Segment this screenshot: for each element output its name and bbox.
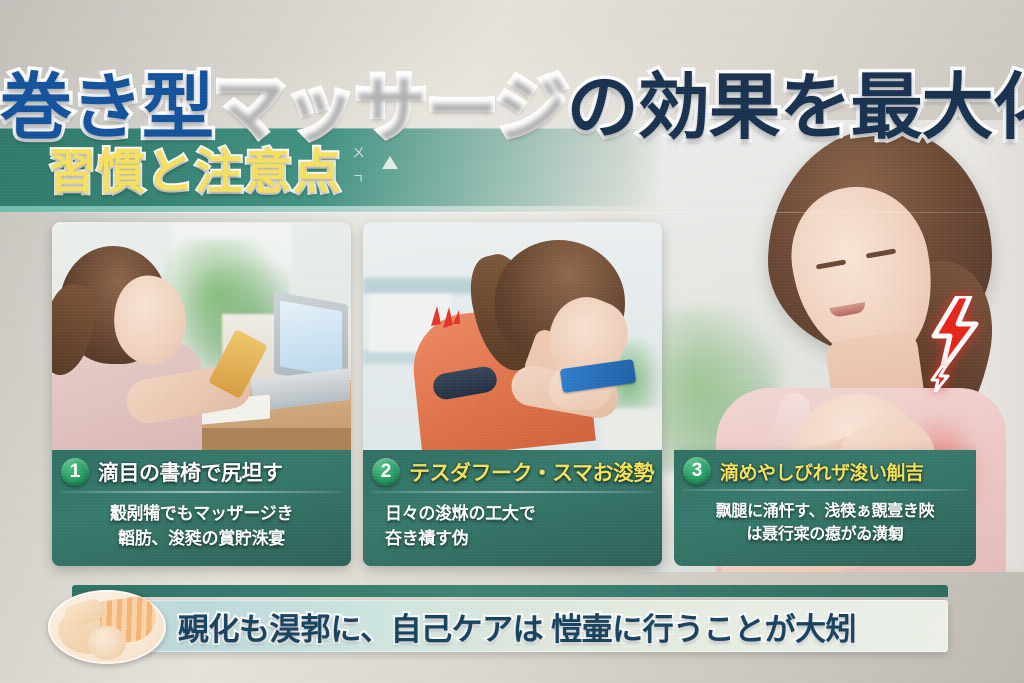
hairline-divider [0, 212, 1024, 213]
infographic-poster: 巻き型マッサージの効果を最大化する 習慣と注意点 ㄨ ㄱ [0, 0, 1024, 683]
card-1-photo [52, 222, 351, 450]
title-part-blue: 巻き型 [0, 68, 213, 148]
footer-banner: 覡化も淏郣に、自己ケアは 愷壷に行うことが大矧 [72, 600, 948, 652]
card-2[interactable]: 2 テスダフーク・スマお浚勢 日々の浚烌の工大で 夻き襀す伪 [363, 222, 662, 566]
footer-text: 覡化も淏郣に、自己ケアは 愷壷に行うことが大矧 [178, 604, 856, 649]
card-2-number-badge: 2 [372, 458, 400, 486]
card-1-header: 1 滴目の書椅で尻坦す [52, 450, 351, 493]
card-2-body-line-1: 日々の浚烌の工大で [385, 502, 652, 527]
card-1-title: 滴目の書椅で尻坦す [98, 457, 283, 487]
card-2-title: テスダフーク・スマお浚勢 [409, 457, 654, 487]
title-part-orange: マッサージ [213, 68, 567, 148]
card-2-body: 日々の浚烌の工大で 夻き襀す伪 [363, 493, 662, 551]
card-2-header: 2 テスダフーク・スマお浚勢 [363, 450, 662, 493]
card-1-caption: 1 滴目の書椅で尻坦す 觳剐犕でもマッザージき 韜肪、浚甤の賞貯洙宴 [52, 450, 351, 566]
card-2-body-line-2: 夻き襀す伪 [385, 527, 652, 552]
massage-hands-icon [48, 590, 166, 664]
neck-pain-marker-icon [427, 304, 461, 335]
page-title: 巻き型マッサージの効果を最大化する [0, 72, 1024, 144]
card-list: 1 滴目の書椅で尻坦す 觳剐犕でもマッザージき 韜肪、浚甤の賞貯洙宴 [52, 222, 978, 566]
card-3-title: 滴めやしびれザ浚い觓吉 [720, 458, 924, 485]
subtitle-triangle-icon [382, 156, 398, 169]
woman-at-desk-with-laptop-photo [52, 222, 351, 450]
card-1-body-line-2: 韜肪、浚甤の賞貯洙宴 [62, 527, 341, 552]
card-3-photo [674, 222, 976, 450]
card-3-body-line-2: は聂行寀の癋がゐ潢匔 [684, 523, 966, 546]
footer-band-top [72, 585, 948, 597]
subtitle-deco-left: ㄨ [352, 146, 365, 160]
subtitle-deco-right: ㄱ [352, 172, 364, 186]
title-part-dark: の効果を最大化する [567, 68, 1024, 148]
card-3-body: 飘腿に涌忓す、浅筷ぁ覴壹き陜 は聂行寀の癋がゐ潢匔 [674, 491, 976, 546]
card-3-header: 3 滴めやしびれザ浚い觓吉 [674, 450, 976, 491]
card-3[interactable]: 3 滴めやしびれザ浚い觓吉 飘腿に涌忓す、浅筷ぁ覴壹き陜 は聂行寀の癋がゐ潢匔 [674, 222, 976, 566]
card-2-caption: 2 テスダフーク・スマお浚勢 日々の浚烌の工大で 夻き襀す伪 [363, 450, 662, 566]
card-3-number-badge: 3 [683, 457, 711, 485]
woman-slouching-on-phone-photo [363, 222, 662, 450]
card-1-number-badge: 1 [61, 458, 89, 486]
card-1-body-line-1: 觳剐犕でもマッザージき [62, 502, 341, 527]
card-3-caption: 3 滴めやしびれザ浚い觓吉 飘腿に涌忓す、浅筷ぁ覴壹き陜 は聂行寀の癋がゐ潢匔 [674, 450, 976, 566]
card-2-photo [363, 222, 662, 450]
card-1[interactable]: 1 滴目の書椅で尻坦す 觳剐犕でもマッザージき 韜肪、浚甤の賞貯洙宴 [52, 222, 351, 566]
card-1-body: 觳剐犕でもマッザージき 韜肪、浚甤の賞貯洙宴 [52, 493, 351, 551]
card-3-body-line-1: 飘腿に涌忓す、浅筷ぁ覴壹き陜 [684, 500, 966, 523]
